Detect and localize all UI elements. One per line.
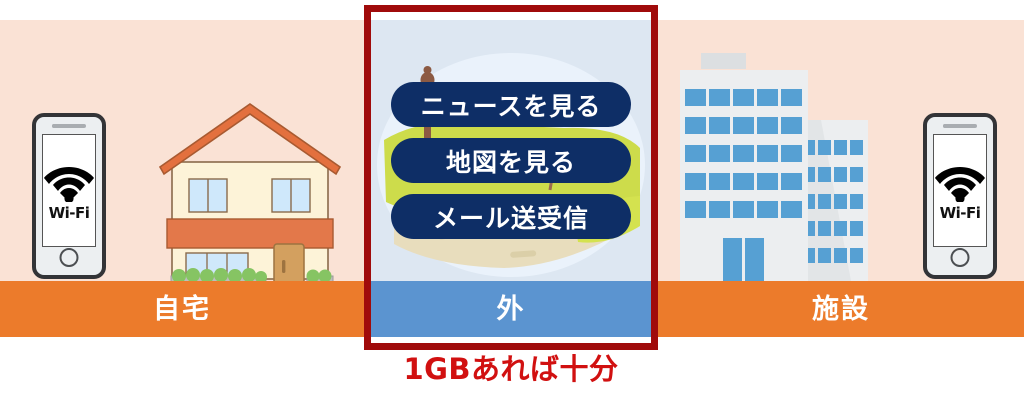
label-bar-facility: 施設 [658, 281, 1024, 337]
action-pill-news[interactable]: ニュースを見る [391, 82, 631, 127]
phone-home-button[interactable] [60, 248, 79, 267]
phone-screen-facility: Wi-Fi [933, 134, 987, 247]
panel-outside[interactable]: ニュースを見る 地図を見る メール送受信 外 [364, 20, 658, 337]
action-pill-map-label: 地図を見る [446, 143, 576, 179]
panels-row: Wi-Fi [0, 20, 1024, 337]
facility-scene: Wi-Fi [658, 20, 1024, 281]
caption-data-sufficient: 1GBあれば十分 [364, 352, 658, 387]
smartphone-wifi-home[interactable]: Wi-Fi [32, 113, 106, 279]
action-pill-news-label: ニュースを見る [421, 87, 602, 123]
label-facility: 施設 [812, 296, 870, 323]
label-outside: 外 [497, 296, 526, 323]
smartphone-wifi-facility[interactable]: Wi-Fi [923, 113, 997, 279]
action-pill-map[interactable]: 地図を見る [391, 138, 631, 183]
action-pill-mail[interactable]: メール送受信 [391, 194, 631, 239]
panel-home[interactable]: Wi-Fi [0, 20, 364, 337]
action-pill-stack: ニュースを見る 地図を見る メール送受信 [364, 82, 658, 239]
home-scene: Wi-Fi [0, 20, 364, 281]
phone-home-button[interactable] [951, 248, 970, 267]
wifi-icon [934, 160, 986, 202]
panel-facility[interactable]: Wi-Fi 施設 [658, 20, 1024, 337]
phone-screen-home: Wi-Fi [42, 134, 96, 247]
house-icon [155, 92, 345, 288]
action-pill-mail-label: メール送受信 [433, 199, 589, 235]
outdoor-park-scene: ニュースを見る 地図を見る メール送受信 [364, 20, 658, 281]
wifi-icon [43, 160, 95, 202]
wifi-label-facility: Wi-Fi [940, 204, 981, 222]
label-bar-home: 自宅 [0, 281, 364, 337]
phone-speaker-icon [52, 124, 86, 128]
label-home: 自宅 [153, 296, 211, 323]
phone-speaker-icon [943, 124, 977, 128]
office-buildings-icon [676, 53, 901, 281]
wifi-label-home: Wi-Fi [49, 204, 90, 222]
infographic-root: Wi-Fi [0, 0, 1024, 400]
label-bar-outside: 外 [364, 281, 658, 337]
